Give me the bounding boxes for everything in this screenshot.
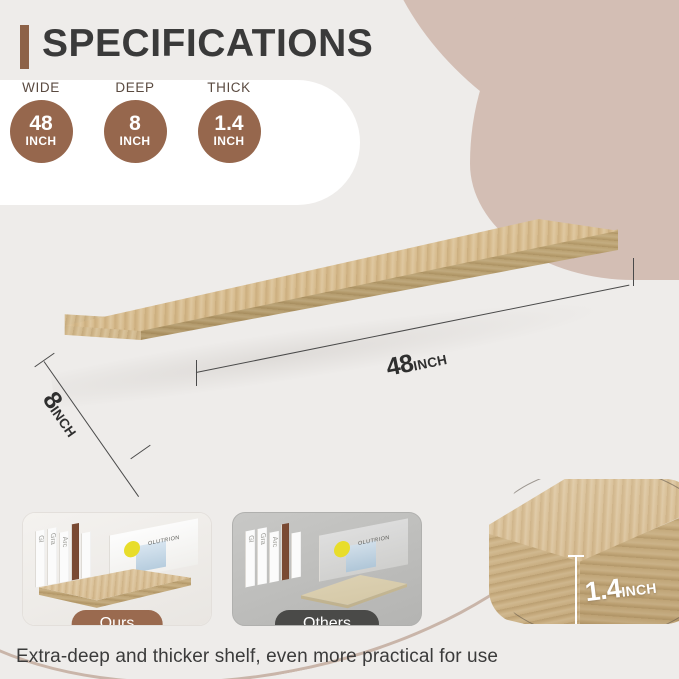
book-item-dark — [71, 523, 79, 581]
spec-unit-deep: INCH — [120, 134, 151, 150]
spec-unit-wide: INCH — [26, 134, 57, 150]
spec-item-wide: WIDE 48 INCH — [5, 80, 77, 163]
ours-scene: Gl Gra Arc OLUTRION — [23, 513, 211, 625]
caption-text: Extra-deep and thicker shelf, even more … — [16, 646, 498, 668]
book-item — [291, 532, 301, 579]
spec-value-deep: 8 — [129, 113, 141, 134]
title-accent-bar — [20, 25, 29, 69]
spec-circle-deep: 8 INCH — [104, 100, 167, 163]
length-dimension-tick-right — [633, 258, 634, 286]
spec-item-thick: THICK 1.4 INCH — [193, 80, 265, 163]
book-item: Gl — [35, 530, 45, 588]
length-dimension-unit: INCH — [412, 352, 448, 373]
thickness-value: 1.4 — [583, 573, 623, 608]
comparison-panel-ours: Gl Gra Arc OLUTRION Ours — [22, 512, 212, 626]
book-item: Gra — [47, 527, 57, 585]
book-letter-1: Gl — [37, 535, 44, 545]
book-item: Gl — [245, 530, 255, 588]
spec-value-thick: 1.4 — [214, 113, 243, 134]
closeup-circle-outline — [489, 479, 679, 624]
book-item: Arc — [59, 531, 69, 583]
book-letter-3: Arc — [271, 536, 278, 546]
depth-dimension-tick-bottom — [130, 445, 150, 460]
book-item: Arc — [269, 531, 279, 583]
book-item — [81, 532, 91, 579]
thickness-closeup-panel: 1.4 INCH — [489, 479, 679, 624]
thickness-unit: INCH — [620, 580, 657, 600]
spec-item-deep: DEEP 8 INCH — [99, 80, 171, 163]
spec-circle-thick: 1.4 INCH — [198, 100, 261, 163]
book-letter-2: Gra — [259, 532, 266, 542]
spec-unit-thick: INCH — [214, 134, 245, 150]
book-letter-2: Gra — [49, 532, 56, 542]
specifications-card: WIDE 48 INCH DEEP 8 INCH THICK 1.4 INCH — [0, 80, 360, 205]
page-title: SPECIFICATIONS — [42, 22, 373, 66]
specifications-list: WIDE 48 INCH DEEP 8 INCH THICK 1.4 INCH — [5, 80, 265, 163]
book-letter-3: Arc — [61, 536, 68, 546]
shelf-product-illustration: 48 INCH 8 INCH — [0, 200, 679, 465]
others-scene: Gl Gra Arc OLUTRION — [233, 513, 421, 625]
ours-label-pill: Ours — [72, 610, 163, 626]
thickness-marker-cap-top — [568, 555, 584, 557]
spec-label-wide: WIDE — [22, 80, 60, 95]
specification-infographic: SPECIFICATIONS WIDE 48 INCH DEEP 8 INCH … — [0, 0, 679, 679]
depth-dimension-tick-top — [34, 353, 54, 368]
book-item-dark — [281, 523, 289, 581]
spec-value-wide: 48 — [29, 113, 52, 134]
book-letter-1: Gl — [247, 535, 254, 545]
length-dimension-value: 48 — [384, 349, 416, 383]
spec-label-thick: THICK — [207, 80, 251, 95]
depth-dimension-unit: INCH — [47, 403, 79, 440]
thickness-marker-line — [575, 555, 577, 624]
spec-circle-wide: 48 INCH — [10, 100, 73, 163]
length-dimension-tick-left — [196, 360, 197, 386]
comparison-panel-others: Gl Gra Arc OLUTRION Others — [232, 512, 422, 626]
others-label-pill: Others — [275, 610, 379, 626]
book-item: Gra — [257, 527, 267, 585]
spec-label-deep: DEEP — [115, 80, 154, 95]
